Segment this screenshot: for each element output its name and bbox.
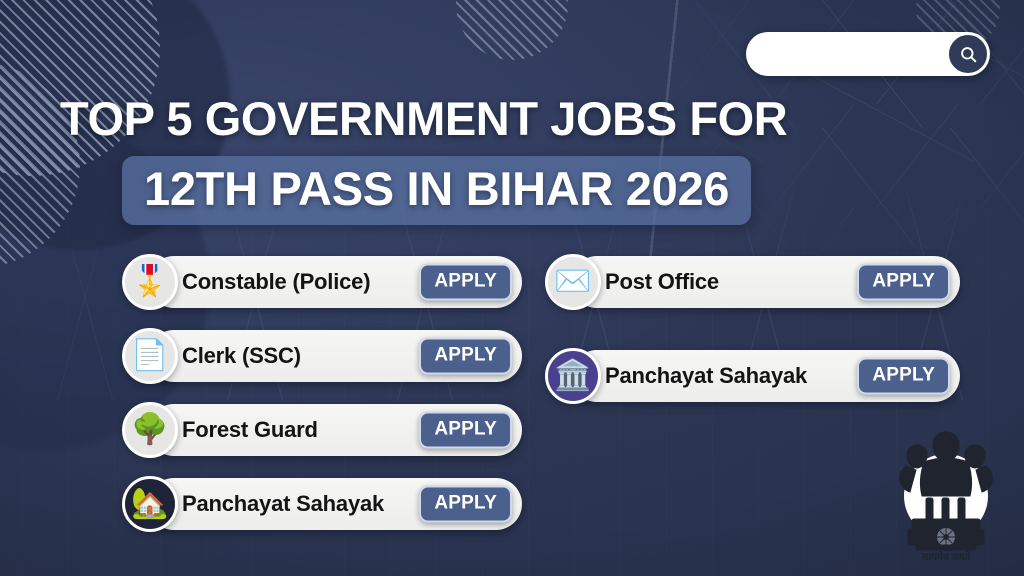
headline-highlight-band: 12TH PASS IN BIHAR 2026 xyxy=(122,156,751,225)
apply-button[interactable]: APPLY xyxy=(419,338,512,375)
poster-canvas: TOP 5 GOVERNMENT JOBS FOR 12TH PASS IN B… xyxy=(0,0,1024,576)
job-card-clerk-ssc[interactable]: 📄 Clerk (SSC) APPLY xyxy=(148,330,522,382)
search-bar[interactable] xyxy=(746,32,990,76)
job-title: Forest Guard xyxy=(182,417,318,443)
job-card-post-office[interactable]: ✉️ Post Office APPLY xyxy=(571,256,960,308)
document-page-icon: 📄 xyxy=(122,328,178,384)
search-button[interactable] xyxy=(947,33,989,75)
search-icon xyxy=(959,45,978,64)
apply-button[interactable]: APPLY xyxy=(419,412,512,449)
government-house-icon: 🏡 xyxy=(122,476,178,532)
emblem-motto: सत्यमेव जयते xyxy=(921,550,972,563)
job-list-left-column: 🎖️ Constable (Police) APPLY 📄 Clerk (SSC… xyxy=(122,256,522,530)
bank-building-icon: 🏛️ xyxy=(545,348,601,404)
headline-line-1: TOP 5 GOVERNMENT JOBS FOR xyxy=(60,95,980,142)
apply-button[interactable]: APPLY xyxy=(857,358,950,395)
job-title: Constable (Police) xyxy=(182,269,370,295)
headline-line-2: 12TH PASS IN BIHAR 2026 xyxy=(144,164,729,214)
police-badge-icon: 🎖️ xyxy=(122,254,178,310)
tree-icon: 🌳 xyxy=(122,402,178,458)
apply-button[interactable]: APPLY xyxy=(419,486,512,523)
job-title: Clerk (SSC) xyxy=(182,343,301,369)
job-card-constable-police[interactable]: 🎖️ Constable (Police) APPLY xyxy=(148,256,522,308)
job-title: Panchayat Sahayak xyxy=(605,363,807,389)
job-card-forest-guard[interactable]: 🌳 Forest Guard APPLY xyxy=(148,404,522,456)
headline-block: TOP 5 GOVERNMENT JOBS FOR 12TH PASS IN B… xyxy=(60,95,980,225)
envelope-icon: ✉️ xyxy=(545,254,601,310)
job-card-panchayat-sahayak-right[interactable]: 🏛️ Panchayat Sahayak APPLY xyxy=(571,350,960,402)
job-title: Panchayat Sahayak xyxy=(182,491,384,517)
apply-button[interactable]: APPLY xyxy=(419,264,512,301)
job-card-panchayat-sahayak-left[interactable]: 🏡 Panchayat Sahayak APPLY xyxy=(148,478,522,530)
apply-button[interactable]: APPLY xyxy=(857,264,950,301)
job-title: Post Office xyxy=(605,269,719,295)
job-list-right-column: ✉️ Post Office APPLY 🏛️ Panchayat Sahaya… xyxy=(545,256,960,402)
india-national-emblem: सत्यमेव जयते xyxy=(880,418,1012,568)
